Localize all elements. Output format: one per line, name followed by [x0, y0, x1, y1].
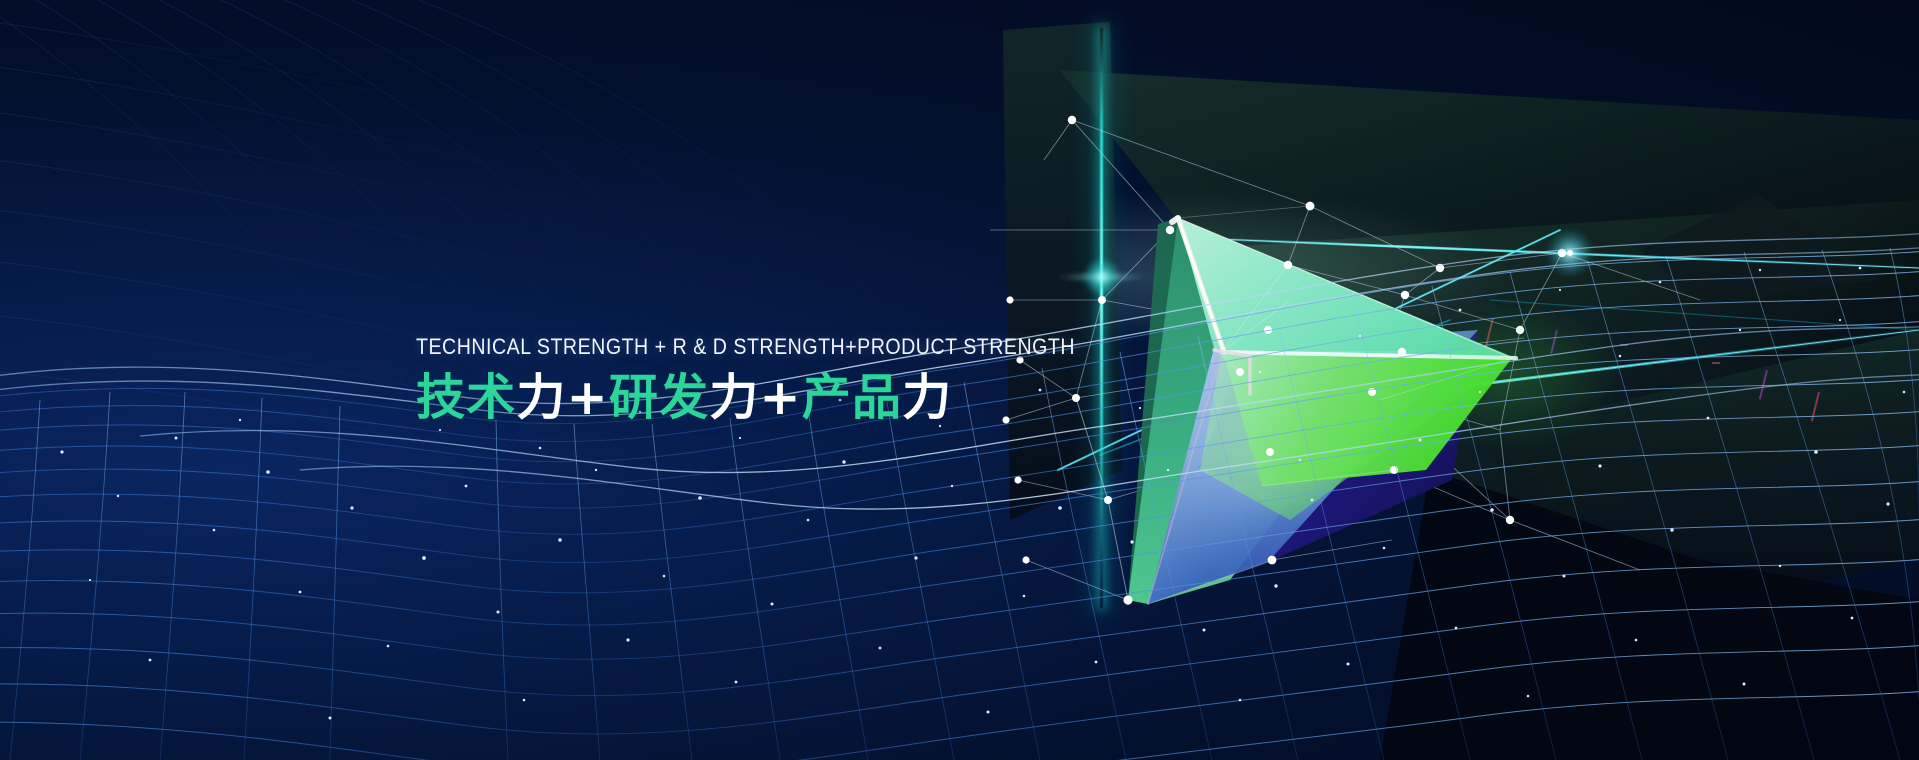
- hero-headline-chinese: 技术力+研发力+产品力: [416, 372, 1136, 424]
- headline-plus-2: +: [759, 369, 801, 426]
- vertical-light-beam: [1100, 28, 1103, 608]
- hero-text-block: TECHNICAL STRENGTH + R & D STRENGTH+PROD…: [416, 336, 1136, 423]
- arrow-tip-glow: [1395, 300, 1625, 450]
- headline-seg-1: 技术: [416, 369, 516, 426]
- headline-seg-3: 研发: [609, 369, 709, 426]
- headline-seg-2: 力: [516, 369, 566, 426]
- arrow-edge-glow: [1110, 190, 1530, 330]
- hero-banner: TECHNICAL STRENGTH + R & D STRENGTH+PROD…: [0, 0, 1919, 760]
- beam-flare-core: [1083, 258, 1121, 296]
- headline-plus-1: +: [567, 369, 609, 426]
- headline-seg-5: 产品: [802, 369, 902, 426]
- beam-flare-streak: [1056, 272, 1148, 282]
- headline-seg-4: 力: [709, 369, 759, 426]
- headline-seg-6: 力: [902, 369, 952, 426]
- hero-eyebrow-english: TECHNICAL STRENGTH + R & D STRENGTH+PROD…: [416, 336, 1042, 359]
